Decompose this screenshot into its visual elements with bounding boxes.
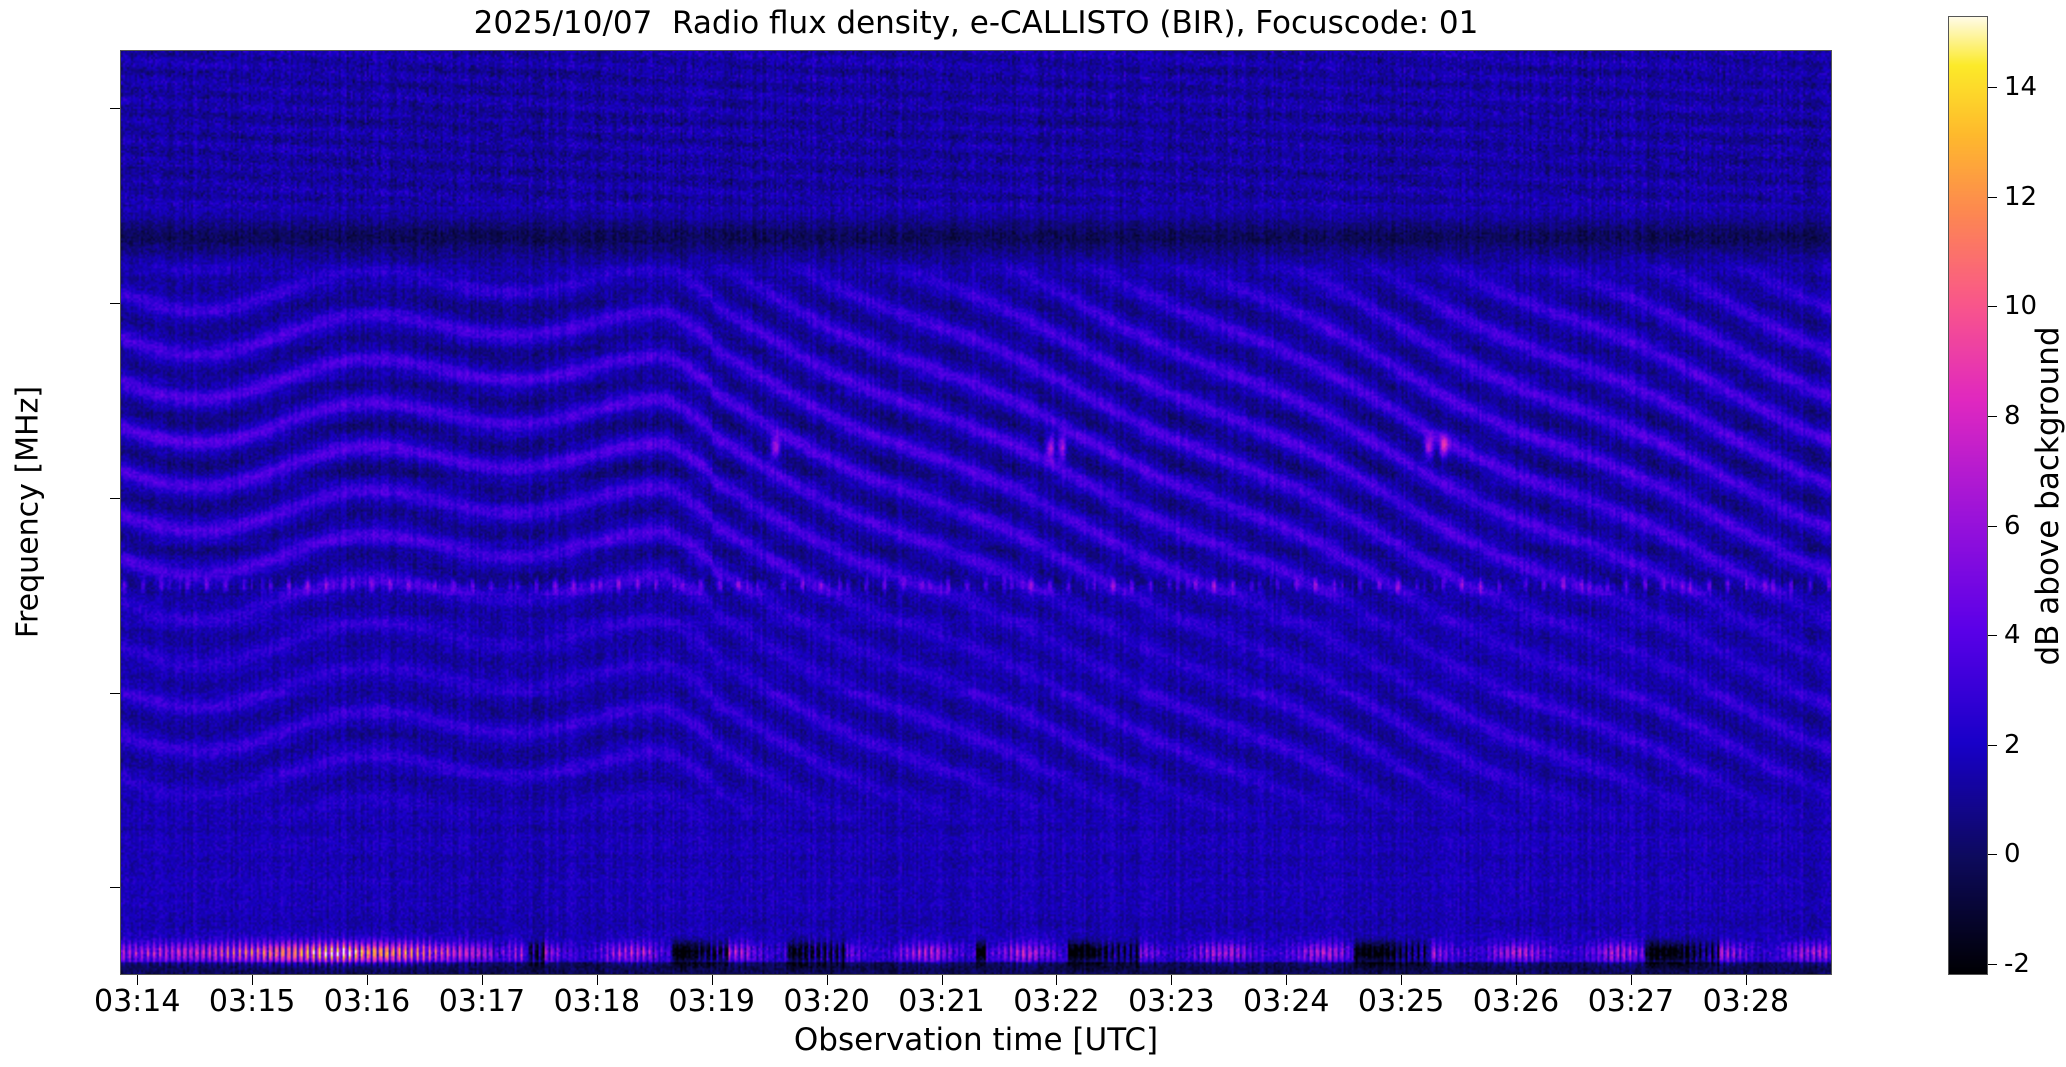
colorbar-gradient [1949,17,1987,974]
colorbar-tick-label: 14 [2004,72,2037,102]
figure-canvas: 2025/10/07 Radio flux density, e-CALLIST… [0,0,2066,1067]
colorbar-tick-label: -2 [2004,949,2030,979]
colorbar-tick-label: 2 [2004,730,2021,760]
x-tick-label: 03:17 [439,984,525,1019]
x-tick-label: 03:19 [668,984,754,1019]
y-axis-label: Frequency [MHz] [11,302,46,722]
colorbar-tick-mark [1988,854,1997,855]
y-tick-mark [110,498,120,499]
x-tick-label: 03:28 [1703,984,1789,1019]
x-tick-label: 03:16 [324,984,410,1019]
colorbar-label: dB above background [2030,196,2066,796]
x-tick-label: 03:24 [1243,984,1329,1019]
x-tick-label: 03:23 [1128,984,1214,1019]
y-tick-mark [110,108,120,109]
x-tick-label: 03:25 [1358,984,1444,1019]
x-tick-label: 03:20 [783,984,869,1019]
y-tick-mark [110,303,120,304]
colorbar-tick-mark [1988,745,1997,746]
colorbar-tick-mark [1988,306,1997,307]
x-tick-label: 03:14 [94,984,180,1019]
colorbar-tick-label: 4 [2004,620,2021,650]
colorbar-tick-mark [1988,197,1997,198]
x-tick-label: 03:18 [554,984,640,1019]
page-title: 2025/10/07 Radio flux density, e-CALLIST… [120,4,1832,42]
colorbar-tick-label: 6 [2004,511,2021,541]
x-tick-label: 03:15 [209,984,295,1019]
colorbar-tick-label: 8 [2004,401,2021,431]
colorbar-tick-mark [1988,87,1997,88]
x-tick-label: 03:26 [1473,984,1559,1019]
colorbar-tick-mark [1988,964,1997,965]
x-tick-label: 03:27 [1588,984,1674,1019]
spectrogram-axes [120,50,1832,975]
colorbar-tick-mark [1988,526,1997,527]
y-tick-mark [110,887,120,888]
x-tick-label: 03:22 [1013,984,1099,1019]
y-tick-mark [110,693,120,694]
spectrogram-image [121,51,1831,974]
x-axis-label: Observation time [UTC] [120,1022,1832,1058]
colorbar-tick-mark [1988,416,1997,417]
colorbar [1948,16,1988,975]
colorbar-tick-label: 0 [2004,839,2021,869]
colorbar-tick-mark [1988,635,1997,636]
x-tick-label: 03:21 [898,984,984,1019]
